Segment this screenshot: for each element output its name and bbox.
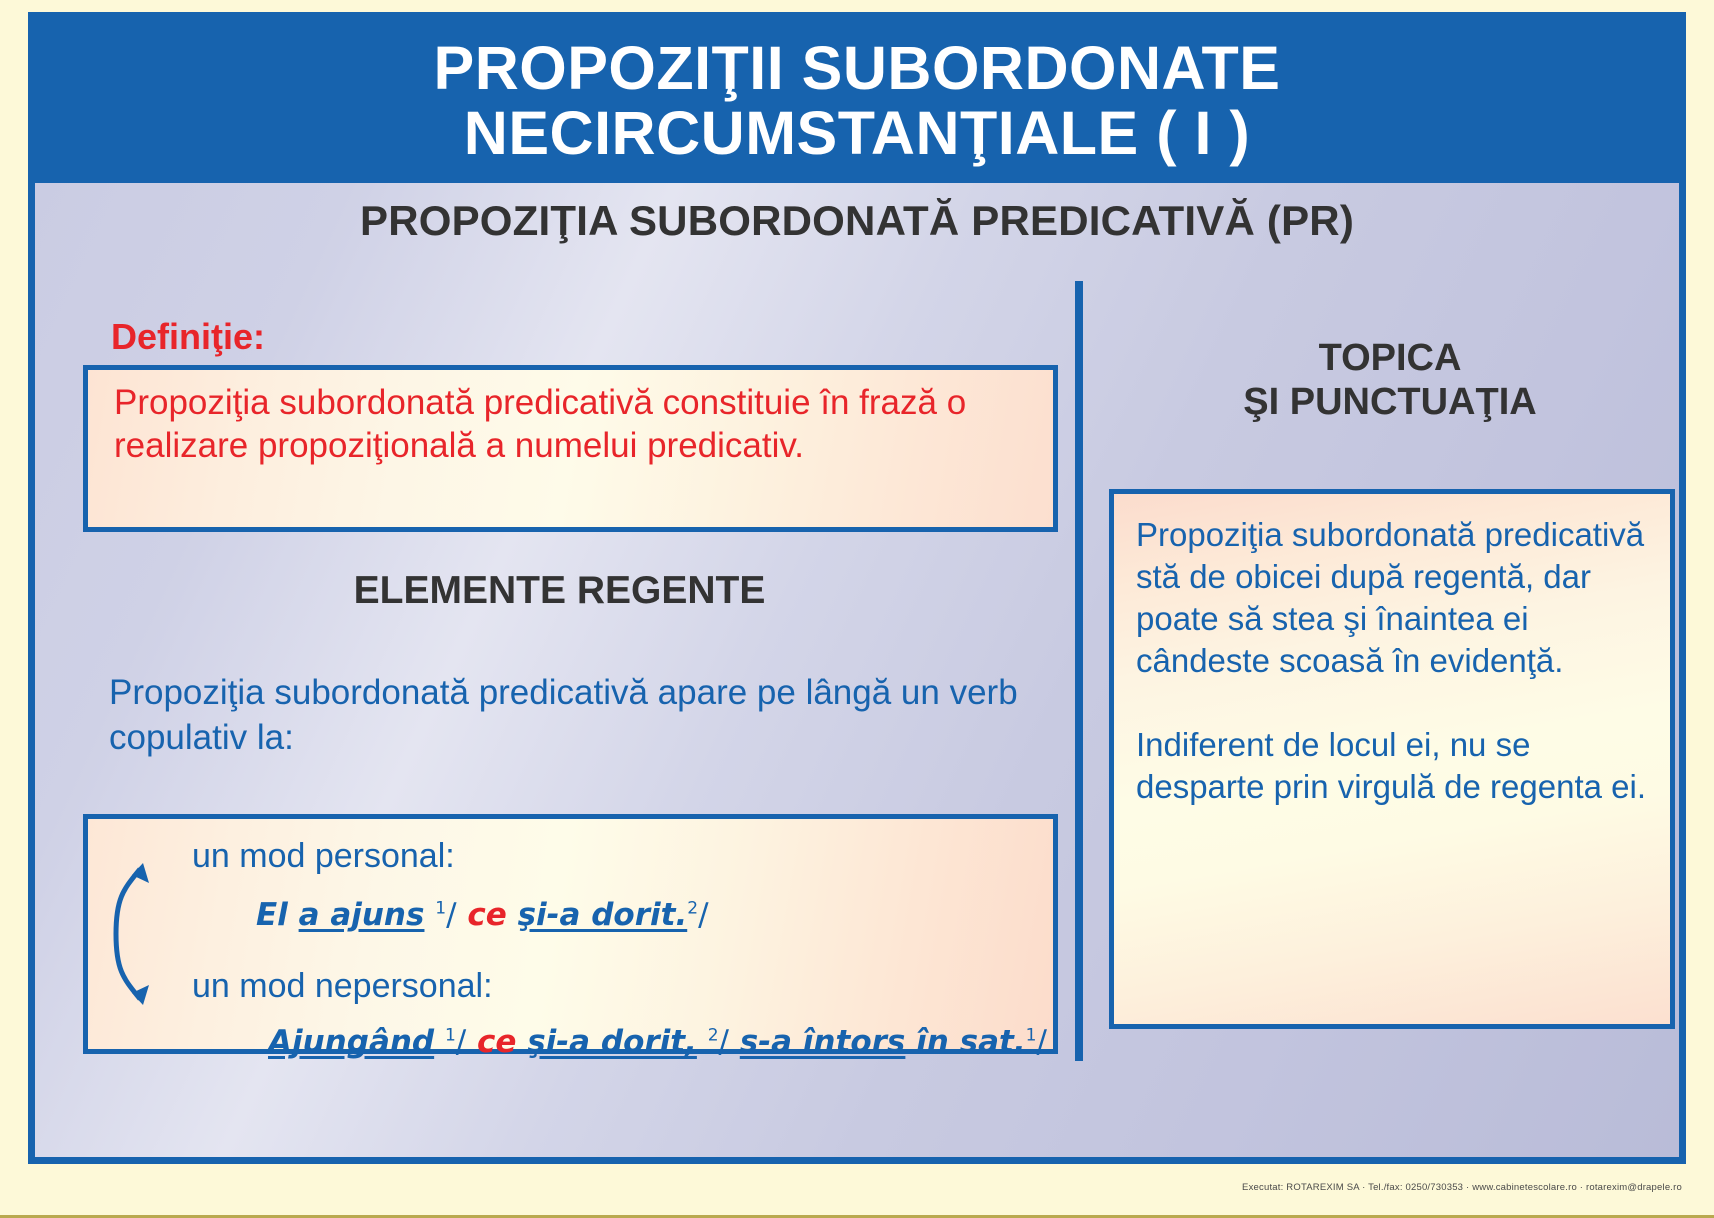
mode-nepersonal-label: un mod nepersonal: (192, 967, 493, 1006)
topica-title: TOPICA ŞI PUNCTUAŢIA (1095, 337, 1685, 424)
ex2-main-verb: s-a întors (740, 1024, 906, 1060)
regente-description: Propoziţia subordonată predicativă apare… (109, 671, 1029, 761)
topica-paragraph-1: Propoziţia subordonată predicativă stă d… (1136, 514, 1656, 682)
ex2-slash-c: / (1036, 1024, 1046, 1060)
ex1-subordinate: şi-a dorit. (518, 897, 688, 933)
poster-root: PROPOZIŢII SUBORDONATE NECIRCUMSTANŢIALE… (0, 0, 1714, 1218)
topica-paragraph-2: Indiferent de locul ei, nu se desparte p… (1136, 724, 1656, 808)
topica-title-line-1: TOPICA (1319, 337, 1462, 379)
ex1-sup-b: 2 (687, 899, 698, 919)
ex1-sup-a: 1 (435, 899, 446, 919)
title-banner: PROPOZIŢII SUBORDONATE NECIRCUMSTANŢIALE… (35, 19, 1679, 183)
mode-personal-label: un mod personal: (192, 837, 455, 876)
section-title: PROPOZIŢIA SUBORDONATĂ PREDICATIVĂ (PR) (35, 197, 1679, 245)
ex2-slash-a: / (456, 1024, 466, 1060)
ex1-relator: ce (467, 897, 506, 933)
ex1-slash-a: / (446, 897, 456, 933)
topica-title-line-2: ŞI PUNCTUAŢIA (1243, 381, 1536, 423)
footer-credit: Executat: ROTAREXIM SA · Tel./fax: 0250/… (1242, 1182, 1682, 1193)
ex1-slash-b: / (698, 897, 708, 933)
right-column: TOPICA ŞI PUNCTUAŢIA Propoziţia subordon… (1095, 281, 1685, 1071)
definition-label: Definiţie: (111, 316, 265, 358)
ex2-relator: ce (477, 1024, 516, 1060)
ex2-subordinate: şi-a dorit, (527, 1024, 697, 1060)
ex2-tail: în sat. (905, 1024, 1025, 1060)
title-line-2: NECIRCUMSTANŢIALE ( I ) (464, 99, 1250, 167)
ex1-predicate: a ajuns (299, 897, 425, 933)
topica-box: Propoziţia subordonată predicativă stă d… (1109, 489, 1675, 1029)
examples-box: un mod personal: El a ajuns 1/ ce şi-a d… (83, 814, 1058, 1054)
title-line-1: PROPOZIŢII SUBORDONATE (434, 34, 1281, 102)
column-divider (1075, 281, 1083, 1061)
ex2-slash-b: / (719, 1024, 729, 1060)
example-sentence-1: El a ajuns 1/ ce şi-a dorit.2/ (256, 897, 709, 933)
ex1-subject: El (256, 897, 299, 933)
definition-box: Propoziţia subordonată predicativă const… (83, 365, 1058, 532)
example-sentence-2: Ajungând 1/ ce şi-a dorit, 2/ s-a întors… (268, 1024, 1047, 1060)
ex2-sup-b: 2 (708, 1026, 719, 1046)
poster-title: PROPOZIŢII SUBORDONATE NECIRCUMSTANŢIALE… (434, 36, 1281, 167)
elemente-regente-title: ELEMENTE REGENTE (57, 569, 1062, 613)
ex2-sup-c: 1 (1026, 1026, 1037, 1046)
left-column: Definiţie: Propoziţia subordonată predic… (57, 281, 1062, 1071)
brace-arrows-icon (110, 837, 188, 1032)
poster-frame: PROPOZIŢII SUBORDONATE NECIRCUMSTANŢIALE… (28, 12, 1686, 1164)
ex2-sup-a: 1 (445, 1026, 456, 1046)
definition-text: Propoziţia subordonată predicativă const… (114, 382, 1031, 467)
ex2-gerund: Ajungând (268, 1024, 434, 1060)
